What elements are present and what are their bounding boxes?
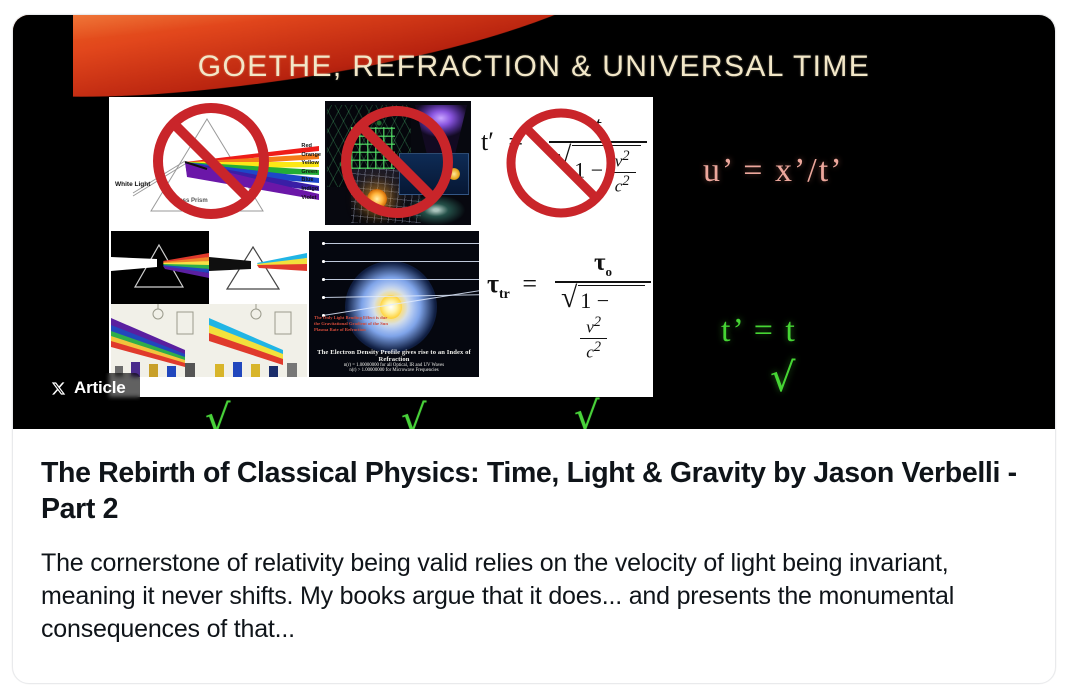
slide-content-panel: White Light Glass Prism Red Orange Yello… [109,97,653,397]
prism-spectra-grid [111,231,307,377]
time-dilation-formula: t′ = t √ 1 − v2 [475,101,651,225]
velocity-transform-equation: u’ = x’/t’ [703,152,844,190]
star-caption: The Electron Density Profile gives rise … [309,349,479,373]
light-prism-graphic [209,231,307,304]
electron-density-star-diagram: The Only Light Bending Effect is due the… [309,231,479,377]
checkmark-icon: √ [205,400,231,429]
article-badge[interactable]: Article [40,373,140,404]
light-ray [323,279,479,280]
spectra-quadrant-dark [111,231,209,304]
x-logo-icon [51,381,66,396]
prohibition-sign-icon [325,101,471,225]
ray-origin-dot [322,278,325,281]
prism-refraction-diagram: White Light Glass Prism Red Orange Yello… [111,99,323,227]
caption-line-3: n(r) > 1.00000000 for Microwave Frequenc… [309,368,479,373]
prohibition-sign-icon [111,99,323,227]
spectra-quadrant-light [209,231,307,304]
spacetime-curvature-collage [325,101,471,225]
ray-origin-dot [322,242,325,245]
spectra-quadrant-cmy-chart [209,304,307,377]
equals-symbol: = [522,269,537,298]
article-badge-label: Article [74,378,126,398]
tau-lhs: τtr = [487,269,537,303]
light-ray [323,243,479,244]
tau-fraction: τo √ 1 − v2 c2 [555,249,651,362]
hero-slide-image[interactable]: GOETHE, REFRACTION & UNIVERSAL TIME [13,15,1055,429]
rgb-spectrum-chart [111,304,209,377]
radical-symbol: √ [561,285,577,312]
dark-prism-graphic [111,231,209,304]
tau-symbol: τ [487,269,499,298]
fraction-denominator: √ 1 − v2 c2 [555,281,651,362]
light-bending-note: The Only Light Bending Effect is due the… [314,315,390,334]
tau-transverse-formula: τtr = τo √ 1 − [483,237,651,371]
checkmark-icon: √ [401,400,427,429]
tau-subscript: tr [499,287,510,302]
cmy-spectrum-chart [209,304,307,377]
time-equality-equation: t’ = t [721,312,797,350]
tau-numerator-subscript: o [606,264,613,279]
tau-numerator-symbol: τ [594,249,606,276]
ray-origin-dot [322,260,325,263]
slide-title: GOETHE, REFRACTION & UNIVERSAL TIME [13,50,1055,84]
checkmark-icon: √ [770,358,796,398]
ray-origin-dot [322,296,325,299]
spectra-quadrant-rgb-chart [111,304,209,377]
prohibition-sign-icon [475,101,651,225]
article-preview-card[interactable]: GOETHE, REFRACTION & UNIVERSAL TIME [12,14,1056,684]
light-ray [323,261,479,262]
card-title: The Rebirth of Classical Physics: Time, … [41,455,1027,527]
caption-line-1: The Electron Density Profile gives rise … [309,349,479,363]
radicand: 1 − v2 c2 [578,285,645,362]
checkmark-icon: √ [574,397,600,429]
card-description: The cornerstone of relativity being vali… [41,547,1027,646]
card-body: The Rebirth of Classical Physics: Time, … [13,429,1055,666]
